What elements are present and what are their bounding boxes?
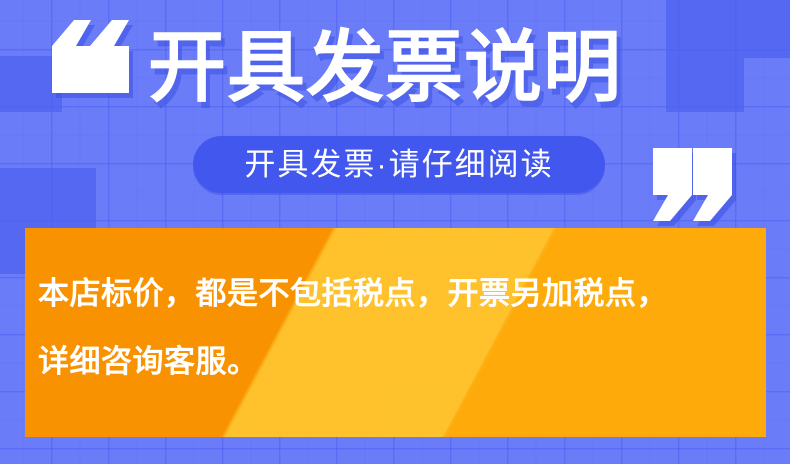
notice-text-line-2: 详细咨询客服。 xyxy=(38,328,750,396)
subtitle-pill-label: 开具发票·请仔细阅读 xyxy=(244,149,553,180)
notice-text: 本店标价，都是不包括税点，开票另加税点， 详细咨询客服。 xyxy=(38,260,750,396)
notice-text-line-1: 本店标价，都是不包括税点，开票另加税点， xyxy=(38,260,750,328)
page-title: 开具发票说明 xyxy=(148,24,622,111)
quote-open-icon xyxy=(50,20,129,93)
subtitle-pill: 开具发票·请仔细阅读 xyxy=(193,136,605,193)
notice-card: 本店标价，都是不包括税点，开票另加税点， 详细咨询客服。 xyxy=(25,228,766,437)
invoice-notice-banner: 开具发票说明 开具发票·请仔细阅读 本店标价，都是不包括税点，开票另加税点， 详… xyxy=(0,0,790,464)
quote-close-icon xyxy=(653,148,732,221)
